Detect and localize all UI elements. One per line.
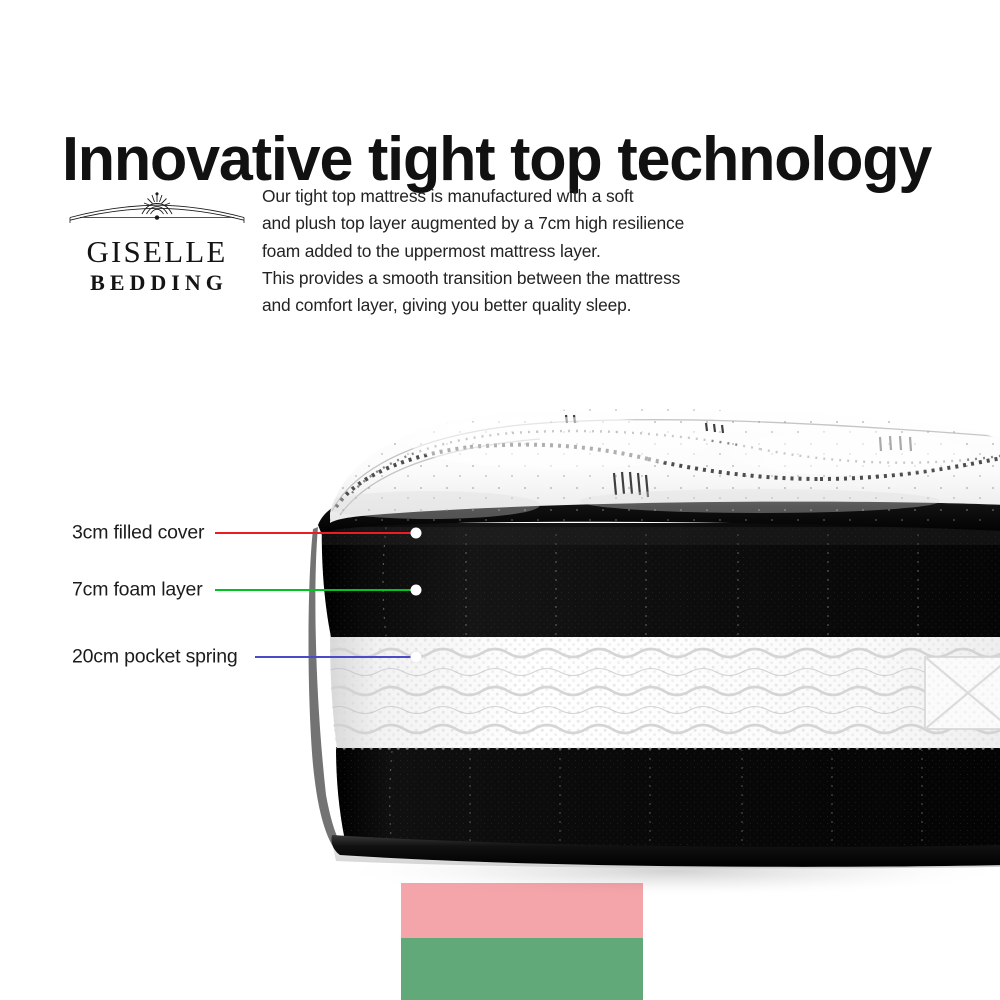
leader-line-filled-cover xyxy=(215,532,416,534)
mattress-illustration xyxy=(0,395,1000,955)
product-description: Our tight top mattress is manufactured w… xyxy=(262,183,762,319)
brand-name: GISELLE xyxy=(62,234,252,270)
description-line-1: Our tight top mattress is manufactured w… xyxy=(262,183,762,210)
leader-line-pocket-spring xyxy=(255,656,416,658)
ornamental-crest-icon xyxy=(64,190,250,232)
leader-dot-foam-layer xyxy=(411,585,422,596)
callout-label-pocket-spring: 20cm pocket spring xyxy=(72,646,237,669)
mattress-lower-panel xyxy=(330,747,1000,852)
description-line-5: and comfort layer, giving you better qua… xyxy=(262,292,762,319)
leader-dot-filled-cover xyxy=(411,528,422,539)
pocket-spring-band xyxy=(325,633,1000,753)
description-line-4: This provides a smooth transition betwee… xyxy=(262,265,762,292)
description-line-3: foam added to the uppermost mattress lay… xyxy=(262,238,762,265)
leader-dot-pocket-spring xyxy=(411,652,422,663)
brand-logo: GISELLE BEDDING xyxy=(62,190,252,296)
mattress-upper-panel xyxy=(318,521,1000,641)
side-handle-patch xyxy=(925,657,1000,729)
quilted-pillow-top xyxy=(286,405,1000,530)
mattress-graphic xyxy=(0,395,1000,955)
callout-label-filled-cover: 3cm filled cover xyxy=(72,522,204,545)
page-title: Innovative tight top technology xyxy=(62,128,949,192)
brand-subtitle: BEDDING xyxy=(62,270,252,296)
infographic-page: Innovative tight top technology xyxy=(0,0,1000,1000)
description-line-2: and plush top layer augmented by a 7cm h… xyxy=(262,210,762,237)
callout-label-foam-layer: 7cm foam layer xyxy=(72,579,203,602)
leader-line-foam-layer xyxy=(215,589,416,591)
